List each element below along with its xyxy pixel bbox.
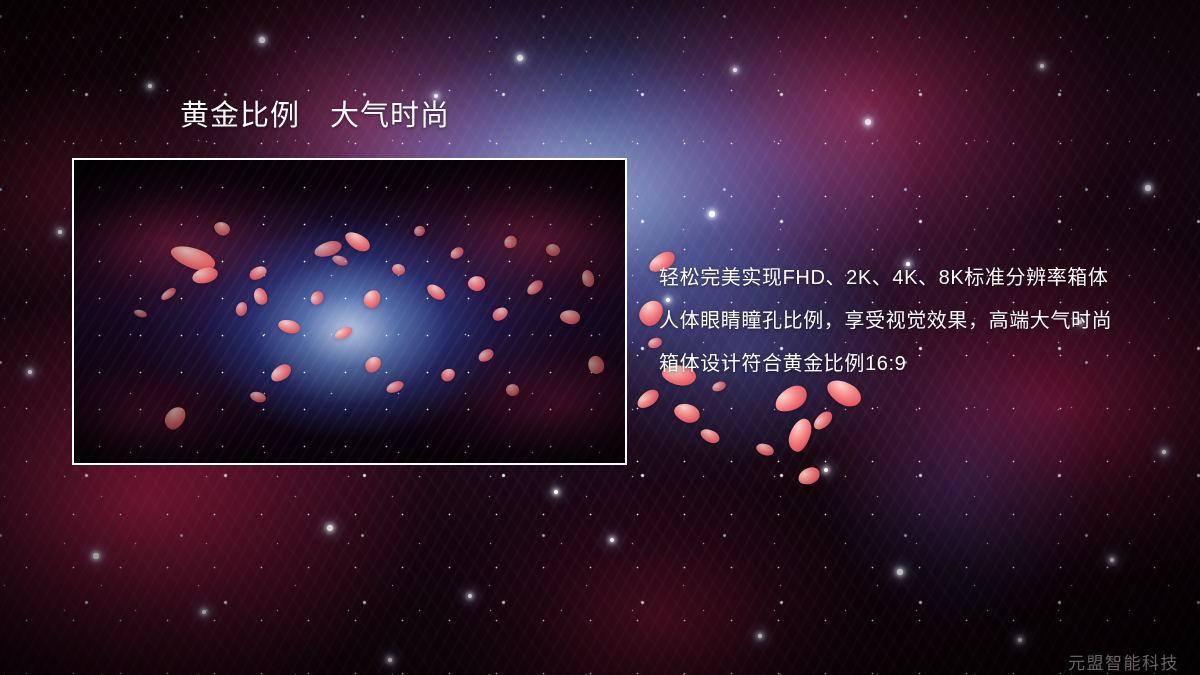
bright-star: [517, 55, 523, 61]
bright-star: [897, 569, 902, 574]
body-line-1: 轻松完美实现FHD、2K、4K、8K标准分辨率箱体: [659, 257, 1179, 300]
panel-image: [74, 160, 625, 463]
bright-star: [388, 658, 393, 663]
bright-star: [148, 84, 152, 88]
bright-star: [28, 370, 33, 375]
bright-star: [733, 68, 738, 73]
body-line-2: 人体眼睛瞳孔比例，享受视觉效果，高端大气时尚: [659, 300, 1179, 343]
bright-star: [93, 553, 98, 558]
bright-star: [1040, 64, 1044, 68]
bright-star: [1145, 185, 1150, 190]
bright-star: [1162, 450, 1166, 454]
bright-star: [468, 594, 472, 598]
flower-petal: [671, 399, 702, 426]
flower-petal: [771, 382, 811, 416]
flower-petal: [634, 387, 662, 412]
bright-star: [434, 94, 438, 98]
framed-nebula-photo: [72, 158, 627, 465]
body-line-3: 箱体设计符合黄金比例16:9: [659, 343, 1179, 386]
bright-star: [824, 468, 828, 472]
bright-star: [865, 119, 871, 125]
flower-petal: [810, 408, 835, 432]
bright-star: [1110, 558, 1115, 563]
watermark-label: 元盟智能科技: [1068, 649, 1179, 674]
bright-star: [758, 634, 762, 638]
body-text-block: 轻松完美实现FHD、2K、4K、8K标准分辨率箱体 人体眼睛瞳孔比例，享受视觉效…: [659, 257, 1179, 386]
flower-petal: [786, 416, 815, 454]
flower-petal: [796, 465, 822, 486]
bright-star: [610, 538, 615, 543]
bright-star: [709, 211, 714, 216]
bright-star: [58, 230, 62, 234]
flower-petal: [698, 426, 721, 446]
bright-star: [202, 610, 206, 614]
page-title: 黄金比例 大气时尚: [180, 101, 450, 133]
bright-star: [1018, 638, 1022, 642]
panel-vignette: [74, 160, 625, 463]
bright-star: [259, 37, 264, 42]
slide-canvas: 黄金比例 大气时尚 轻松完美实现FHD、2K、4K、8K标准分辨率箱体 人体眼睛…: [0, 0, 1200, 675]
bright-star: [327, 525, 333, 531]
flower-petal: [755, 441, 776, 458]
bright-star: [554, 490, 558, 494]
